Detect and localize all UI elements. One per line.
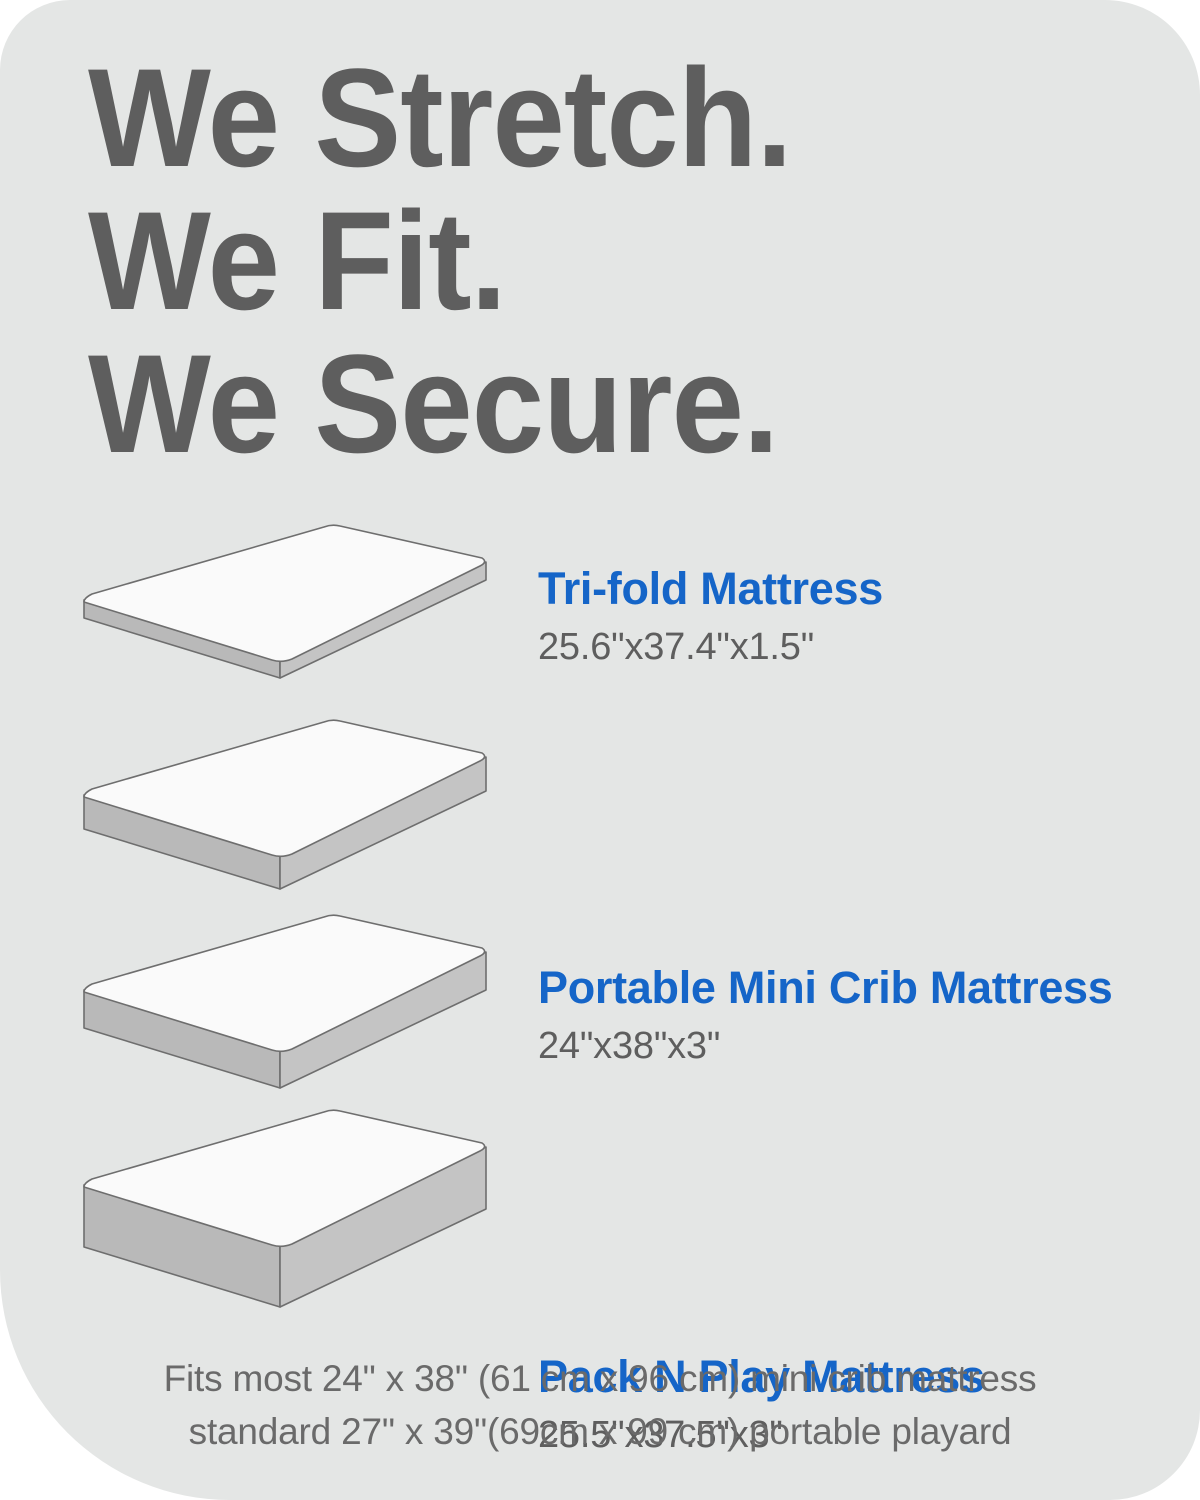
mattress-isometric-icon xyxy=(62,1105,522,1305)
product-row: Pack N Play Mattress 25.5"x37.5"x3" xyxy=(0,910,1200,1105)
mattress-illustration-3 xyxy=(62,910,522,1110)
infographic-canvas: We Stretch. We Fit. We Secure. Tri-fold … xyxy=(0,0,1200,1500)
product-caption: Tri-fold Mattress 25.6"x37.4"x1.5" xyxy=(538,564,1178,668)
fit-note: Fits most 24" x 38" (61 cm x 96 cm) mini… xyxy=(0,1352,1200,1458)
headline-line-2: We Fit. xyxy=(88,189,1018,332)
product-dimensions: 25.6"x37.4"x1.5" xyxy=(538,626,1178,668)
headline-block: We Stretch. We Fit. We Secure. xyxy=(88,46,1088,475)
mattress-isometric-icon xyxy=(62,910,522,1110)
headline-line-1: We Stretch. xyxy=(88,46,1018,189)
headline-line-3: We Secure. xyxy=(88,332,1018,475)
fit-note-line-1: Fits most 24" x 38" (61 cm x 96 cm) mini… xyxy=(0,1352,1200,1405)
product-row: Tri-fold Mattress 25.6"x37.4"x1.5" xyxy=(0,520,1200,715)
fit-note-line-2: standard 27" x 39"(69cm x 99 cm) portabl… xyxy=(0,1405,1200,1458)
product-list: Tri-fold Mattress 25.6"x37.4"x1.5" Porta… xyxy=(0,520,1200,1315)
mattress-isometric-icon xyxy=(62,715,522,915)
mattress-illustration-1 xyxy=(62,520,522,720)
mattress-isometric-icon xyxy=(62,520,522,720)
mattress-illustration-2 xyxy=(62,715,522,915)
mattress-illustration-4 xyxy=(62,1105,522,1305)
product-title: Tri-fold Mattress xyxy=(538,564,1178,614)
product-row: Portable Mini Crib Mattress 24"x38"x3" xyxy=(0,715,1200,910)
product-row: Pack N Play Mattress 25.5"x37.5"x5" xyxy=(0,1105,1200,1315)
